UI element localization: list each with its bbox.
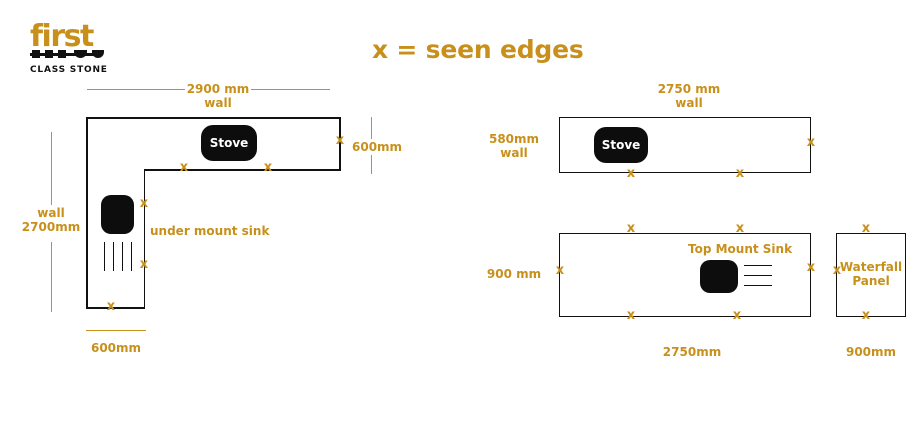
edge-marker-x: x: [831, 264, 843, 277]
waterfall-panel-bottom-dimension-label: 900mm: [836, 345, 906, 359]
waterfall-panel-line1: Waterfall: [840, 260, 902, 274]
edge-marker-x: x: [860, 222, 872, 235]
waterfall-panel-label: Waterfall Panel: [836, 260, 906, 288]
diagram-waterfall-panel: Waterfall Panel x x x 900mm: [0, 0, 918, 380]
edge-marker-x: x: [860, 309, 872, 322]
waterfall-panel-bottom-dimension-value: 900mm: [846, 345, 896, 359]
waterfall-panel-line2: Panel: [852, 274, 889, 288]
